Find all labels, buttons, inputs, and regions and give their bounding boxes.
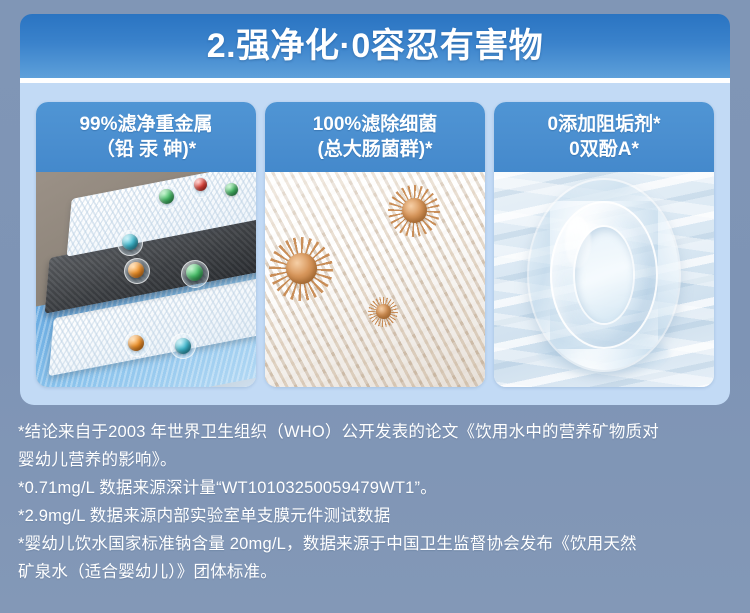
card-heading-line2: 0双酚A* xyxy=(569,137,639,162)
particle-icon xyxy=(186,264,203,281)
card-heading-line2: (总大肠菌群)* xyxy=(317,137,432,162)
card-heading-line1: 0添加阻垢剂* xyxy=(548,112,661,137)
card-heading-line1: 100%滤除细菌 xyxy=(313,112,438,137)
glass-zero-icon xyxy=(529,180,679,370)
footnote-line: 矿泉水（适合婴幼儿）》团体标准。 xyxy=(18,558,736,586)
feature-card-heavy-metals[interactable]: 99%滤净重金属 （铅 汞 砷)* xyxy=(36,102,256,387)
banner-title: 2.强净化·0容忍有害物 xyxy=(207,29,544,63)
fiber-mesh-photo xyxy=(265,172,485,387)
feature-card-zero-additives[interactable]: 0添加阻垢剂* 0双酚A* xyxy=(494,102,714,387)
card-heading-line1: 99%滤净重金属 xyxy=(79,112,212,137)
footnote-line: *婴幼儿饮水国家标准钠含量 20mg/L，数据来源于中国卫生监督协会发布《饮用天… xyxy=(18,530,736,558)
section-banner: 2.强净化·0容忍有害物 xyxy=(20,14,730,78)
card-header-bacteria: 100%滤除细菌 (总大肠菌群)* xyxy=(265,102,485,172)
card-heading-line2: （铅 汞 砷)* xyxy=(96,137,196,162)
bacteria-icon xyxy=(368,297,398,327)
card-header-zero-additives: 0添加阻垢剂* 0双酚A* xyxy=(494,102,714,172)
footnote-line: *0.71mg/L 数据来源深计量“WT10103250059479WT1”。 xyxy=(18,474,736,502)
particle-icon xyxy=(225,183,238,196)
footnote-line: 婴幼儿营养的影响》。 xyxy=(18,446,736,474)
particle-icon xyxy=(175,338,191,354)
promo-page: 2.强净化·0容忍有害物 99%滤净重金属 （铅 汞 砷)* xyxy=(0,0,750,613)
feature-card-bacteria[interactable]: 100%滤除细菌 (总大肠菌群)* xyxy=(265,102,485,387)
bacteria-icon xyxy=(388,185,440,237)
card-header-heavy-metals: 99%滤净重金属 （铅 汞 砷)* xyxy=(36,102,256,172)
footnotes-block: *结论来自于2003 年世界卫生组织（WHO）公开发表的论文《饮用水中的营养矿物… xyxy=(18,418,736,586)
footnote-line: *2.9mg/L 数据来源内部实验室单支膜元件测试数据 xyxy=(18,502,736,530)
glass-zero-photo xyxy=(494,172,714,387)
feature-card-list: 99%滤净重金属 （铅 汞 砷)* xyxy=(36,102,714,387)
features-panel: 99%滤净重金属 （铅 汞 砷)* xyxy=(20,83,730,405)
footnote-line: *结论来自于2003 年世界卫生组织（WHO）公开发表的论文《饮用水中的营养矿物… xyxy=(18,418,736,446)
filter-layers-photo xyxy=(36,172,256,387)
bacteria-icon xyxy=(269,237,333,301)
